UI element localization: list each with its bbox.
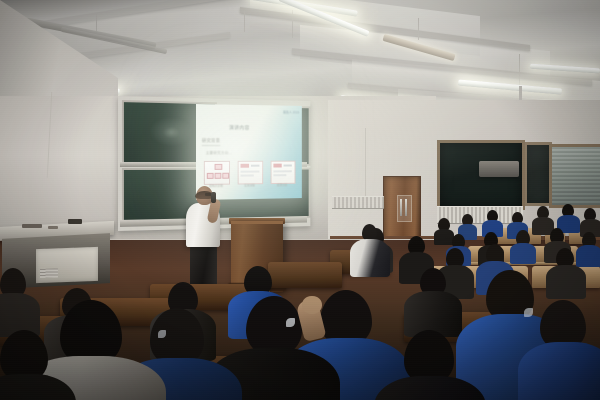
wall-radiator <box>332 196 384 209</box>
bench-back <box>268 262 342 288</box>
diagram-bar <box>241 171 260 173</box>
desk-object <box>48 226 58 229</box>
slide-thumbnail <box>238 161 263 185</box>
wall-radiator <box>437 206 523 224</box>
slide-caption: 结果分析 <box>271 183 294 187</box>
diagram-node <box>222 173 229 179</box>
diagram-node <box>215 164 223 170</box>
diagram-bar <box>284 165 292 167</box>
torso <box>546 265 586 299</box>
projector-cable <box>365 128 366 200</box>
av-equipment-unit <box>36 247 98 283</box>
light-stem <box>292 10 293 38</box>
uniform-logo <box>524 308 533 317</box>
wall-air-conditioner <box>479 161 519 177</box>
light-stem <box>244 10 245 32</box>
slide-subtitle: 研究背景 <box>202 138 220 146</box>
slide-thumbnail <box>271 161 296 184</box>
diagram-bar <box>241 174 254 176</box>
blinded-window <box>549 144 600 208</box>
projection-screen: 报告人 2015 演讲内容 研究背景 主要研究方向… 结构示意图 实验流程 结果… <box>196 104 302 200</box>
uniform-logo <box>158 330 166 338</box>
uniform-logo <box>286 318 295 327</box>
desk-object <box>22 224 42 228</box>
slide-body-line: 主要研究方向… <box>206 151 232 156</box>
light-stem <box>519 54 520 86</box>
slide-caption: 实验流程 <box>238 183 262 187</box>
torso <box>518 342 600 400</box>
torso <box>576 245 600 267</box>
torso <box>510 243 536 264</box>
torso <box>350 239 390 277</box>
presenter-legs <box>190 244 217 288</box>
desk-object <box>68 219 82 224</box>
diagram-bar <box>273 174 286 176</box>
slide-title: 演讲内容 <box>229 124 250 131</box>
diagram-bar <box>273 164 281 168</box>
slide-corner-text: 报告人 2015 <box>283 110 299 115</box>
night-window <box>524 142 552 206</box>
lecture-hall-photo: 报告人 2015 演讲内容 研究背景 主要研究方向… 结构示意图 实验流程 结果… <box>0 0 600 400</box>
diagram-bar <box>251 165 259 167</box>
diagram-bar <box>241 164 250 168</box>
diagram-node <box>215 173 222 179</box>
diagram-node <box>207 173 214 179</box>
chalk-smudge <box>163 127 180 139</box>
head <box>246 296 302 356</box>
door-handle[interactable] <box>400 199 402 216</box>
handheld-microphone <box>211 192 216 203</box>
light-stem <box>418 18 419 40</box>
light-stem <box>96 14 97 32</box>
torso <box>434 229 454 245</box>
door-handle[interactable] <box>405 199 407 216</box>
audience-hand <box>302 296 322 314</box>
slide-thumbnail <box>204 161 230 185</box>
diagram-bar <box>273 170 291 172</box>
